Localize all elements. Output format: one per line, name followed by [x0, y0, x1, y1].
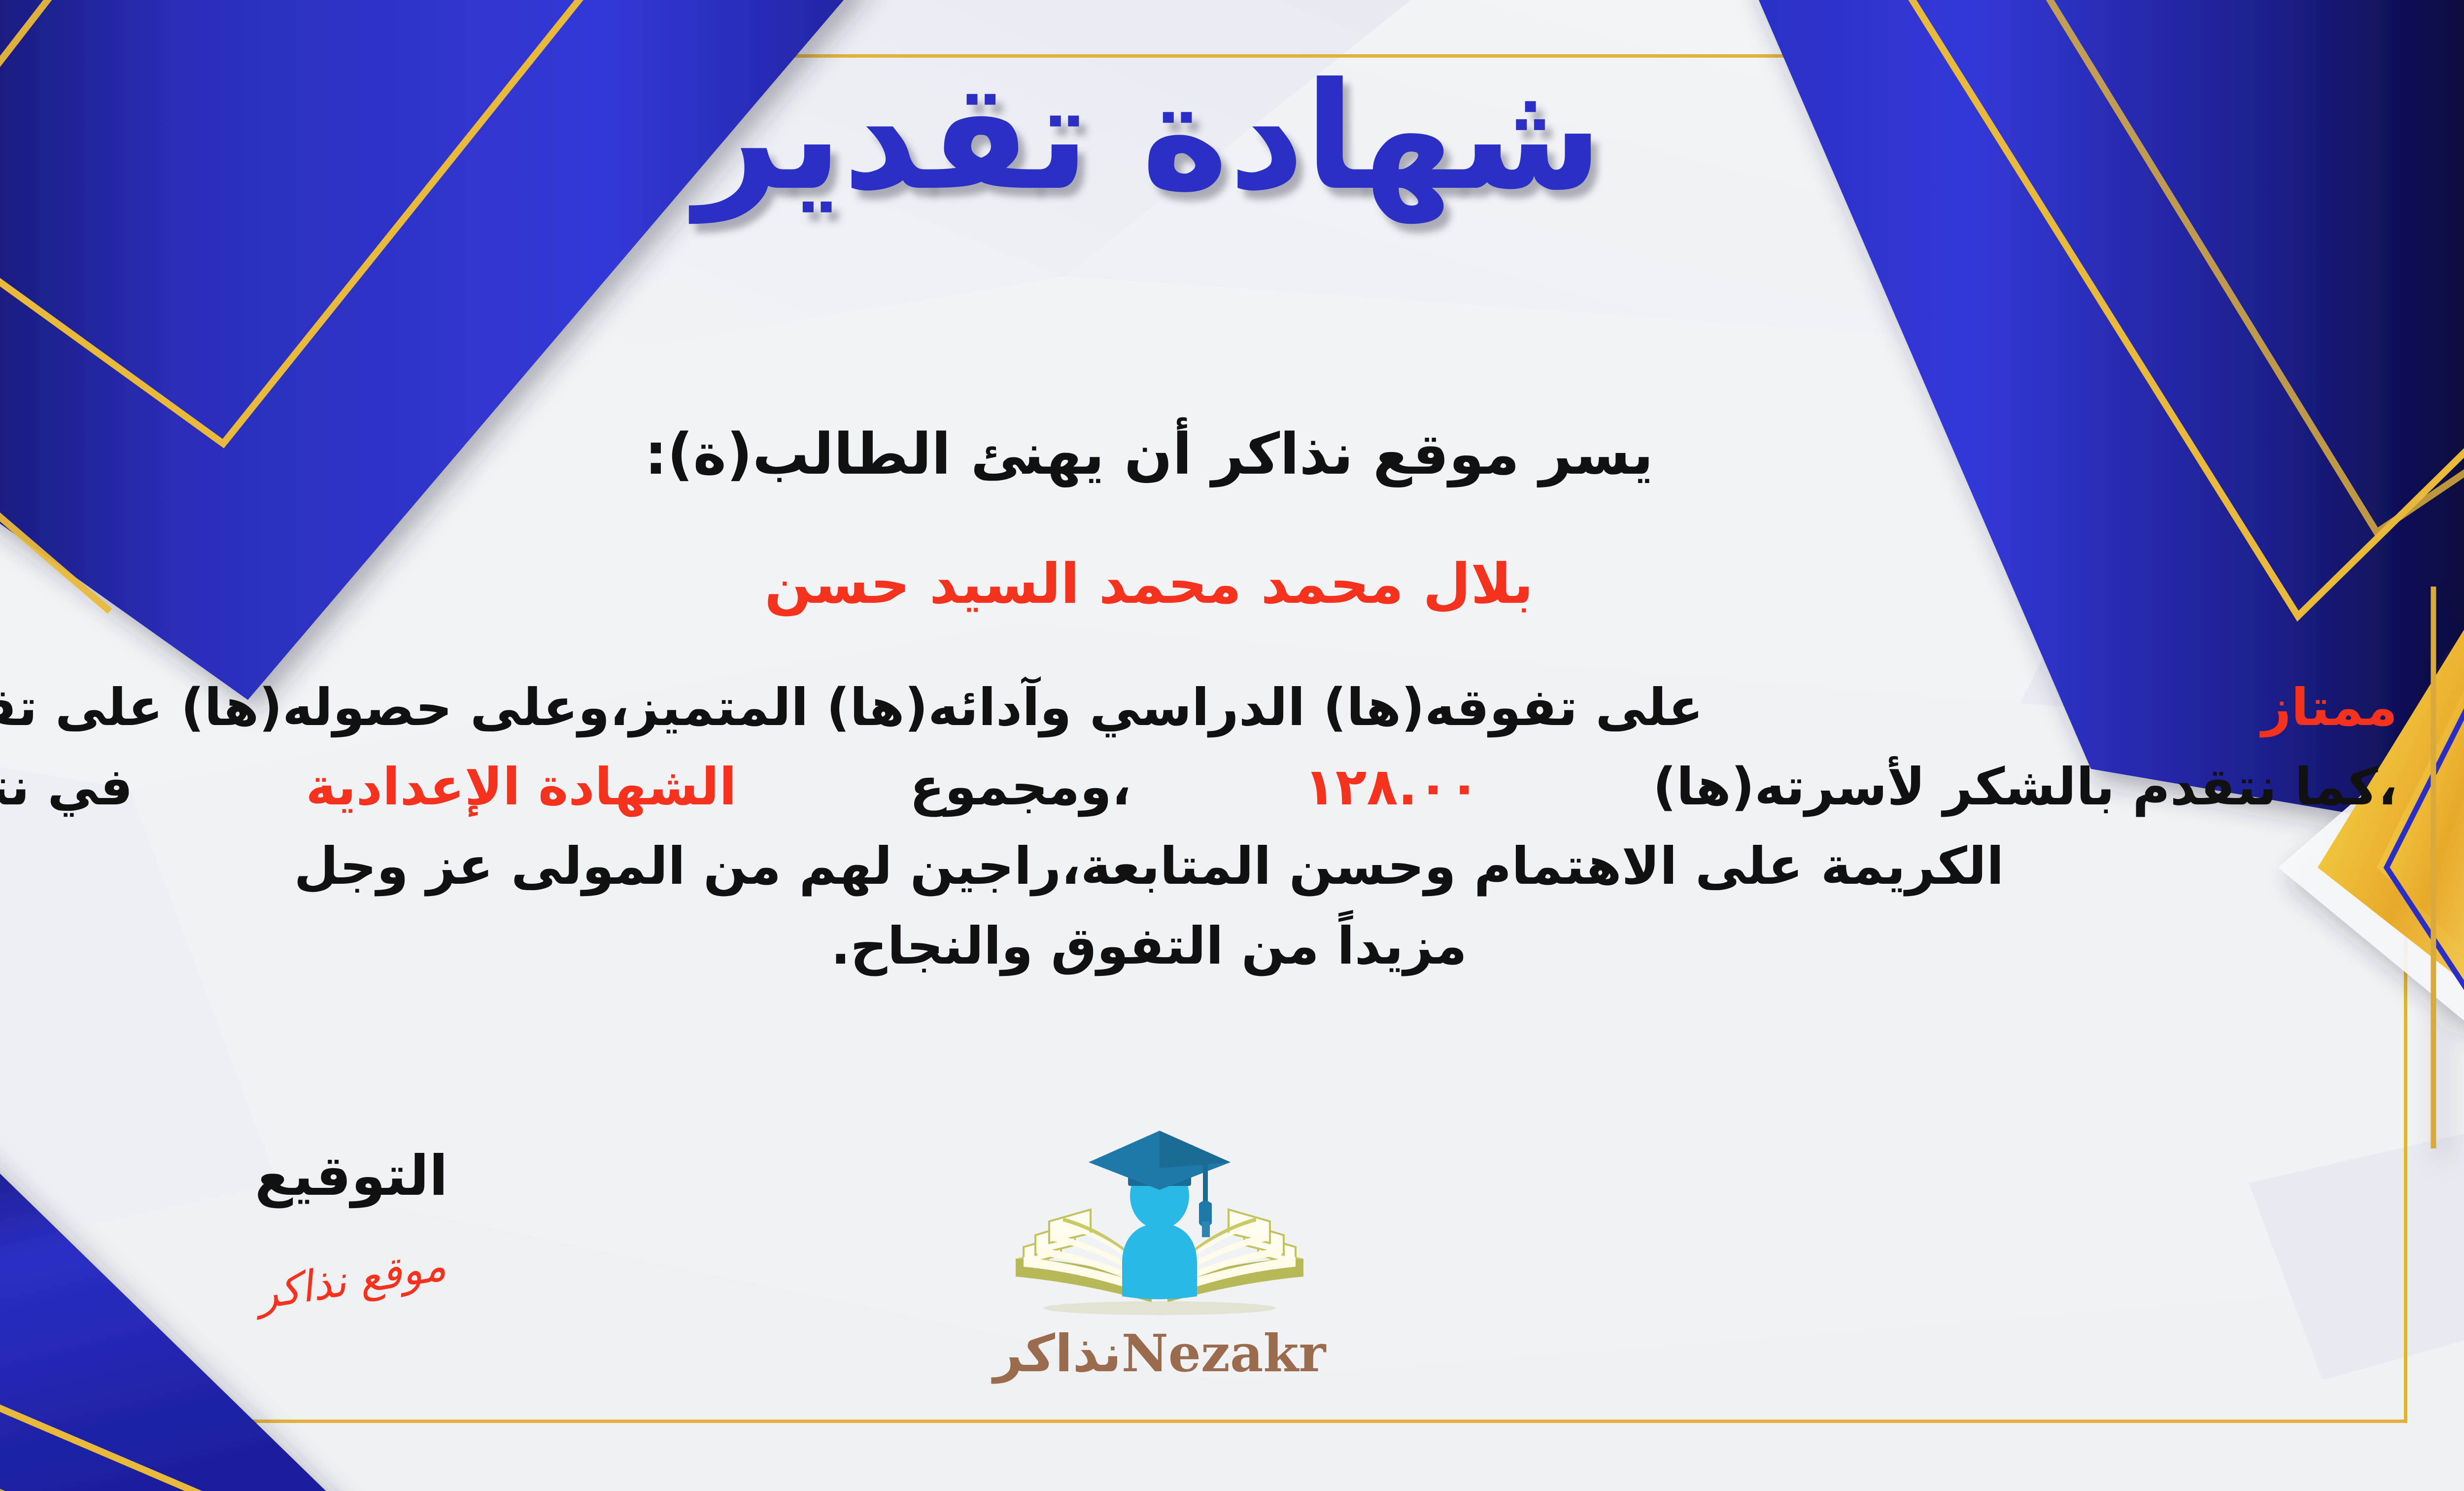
exam-name: الشهادة الإعدادية — [306, 747, 737, 827]
certificate-body: ممتاز على تفوقه(ها) الدراسي وآدائه(ها) ا… — [0, 668, 2397, 986]
student-name: بلال محمد محمد السيد حسن — [0, 552, 2464, 616]
body-line-1-text: على تفوقه(ها) الدراسي وآدائه(ها) المتميز… — [0, 668, 1703, 747]
page-title: شهادة تقدير — [0, 52, 2464, 222]
signature-mark: موقع نذاكر — [254, 1241, 449, 1319]
body-line-2: ،كما نتقدم بالشكر لأسرته(ها) ١٢٨.٠٠ ،ومج… — [0, 747, 2397, 827]
body-line-4: مزيداً من التفوق والنجاح. — [0, 906, 2397, 986]
certificate-content: شهادة تقدير يسر موقع نذاكر أن يهنئ الطال… — [0, 0, 2464, 1491]
logo-wordmark: Nezakrنذاكر — [958, 1328, 1362, 1379]
site-logo: Nezakrنذاكر — [958, 1129, 1362, 1379]
certificate-canvas: شهادة تقدير يسر موقع نذاكر أن يهنئ الطال… — [0, 0, 2464, 1491]
open-book-icon — [1002, 1129, 1317, 1326]
greeting-line: يسر موقع نذاكر أن يهنئ الطالب(ة): — [0, 421, 2464, 487]
body-line-2-lead: في نتيجة — [0, 747, 133, 827]
total-score-label: ،ومجموع — [910, 747, 1131, 827]
total-score-value: ١٢٨.٠٠ — [1304, 747, 1480, 827]
logo-latin: Nezakr — [1122, 1323, 1326, 1384]
signature-label: التوقيع — [179, 1148, 524, 1204]
grade-value: ممتاز — [2262, 668, 2398, 747]
body-line-2-tail: ،كما نتقدم بالشكر لأسرته(ها) — [1653, 747, 2397, 827]
logo-arabic: نذاكر — [993, 1323, 1122, 1384]
signature-block: التوقيع موقع نذاكر — [179, 1148, 524, 1305]
body-line-3: الكريمة على الاهتمام وحسن المتابعة،راجين… — [0, 827, 2397, 906]
body-line-1: ممتاز على تفوقه(ها) الدراسي وآدائه(ها) ا… — [0, 668, 2397, 747]
